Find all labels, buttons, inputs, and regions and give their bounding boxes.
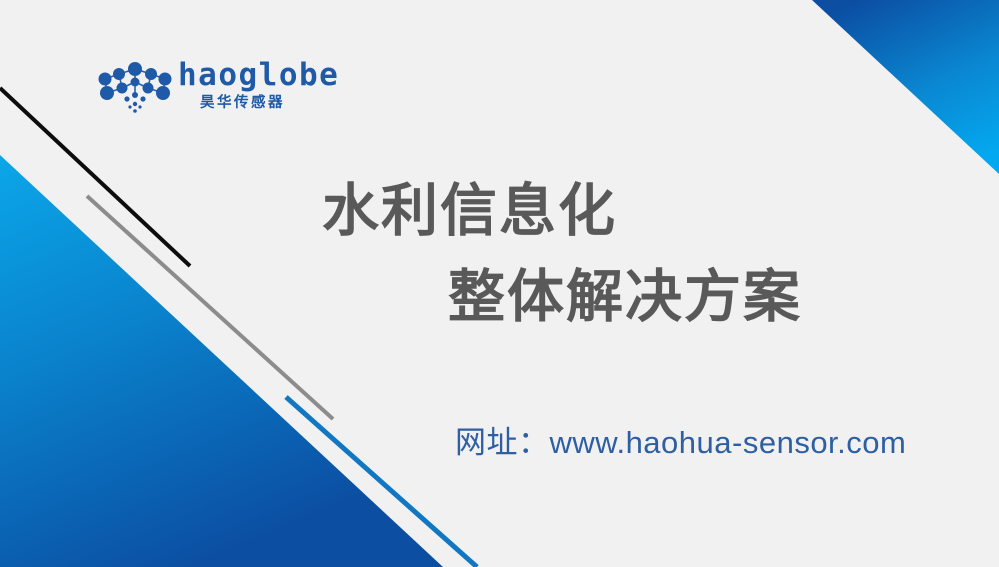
- logo-wordmark: haoglobe: [178, 58, 339, 92]
- title-line-2: 整体解决方案: [310, 254, 910, 340]
- logo-subtitle: 昊华传感器: [200, 94, 285, 112]
- company-logo: haoglobe 昊华传感器: [96, 58, 326, 120]
- page-title: 水利信息化 整体解决方案: [310, 168, 910, 340]
- website-line: 网址：www.haohua-sensor.com: [455, 422, 906, 464]
- molecule-network-icon: [96, 62, 174, 114]
- website-url[interactable]: www.haohua-sensor.com: [550, 425, 907, 460]
- website-label: 网址：: [455, 425, 550, 460]
- title-slide: haoglobe 昊华传感器 水利信息化 整体解决方案 网址：www.haohu…: [0, 0, 999, 567]
- title-line-1: 水利信息化: [310, 168, 910, 254]
